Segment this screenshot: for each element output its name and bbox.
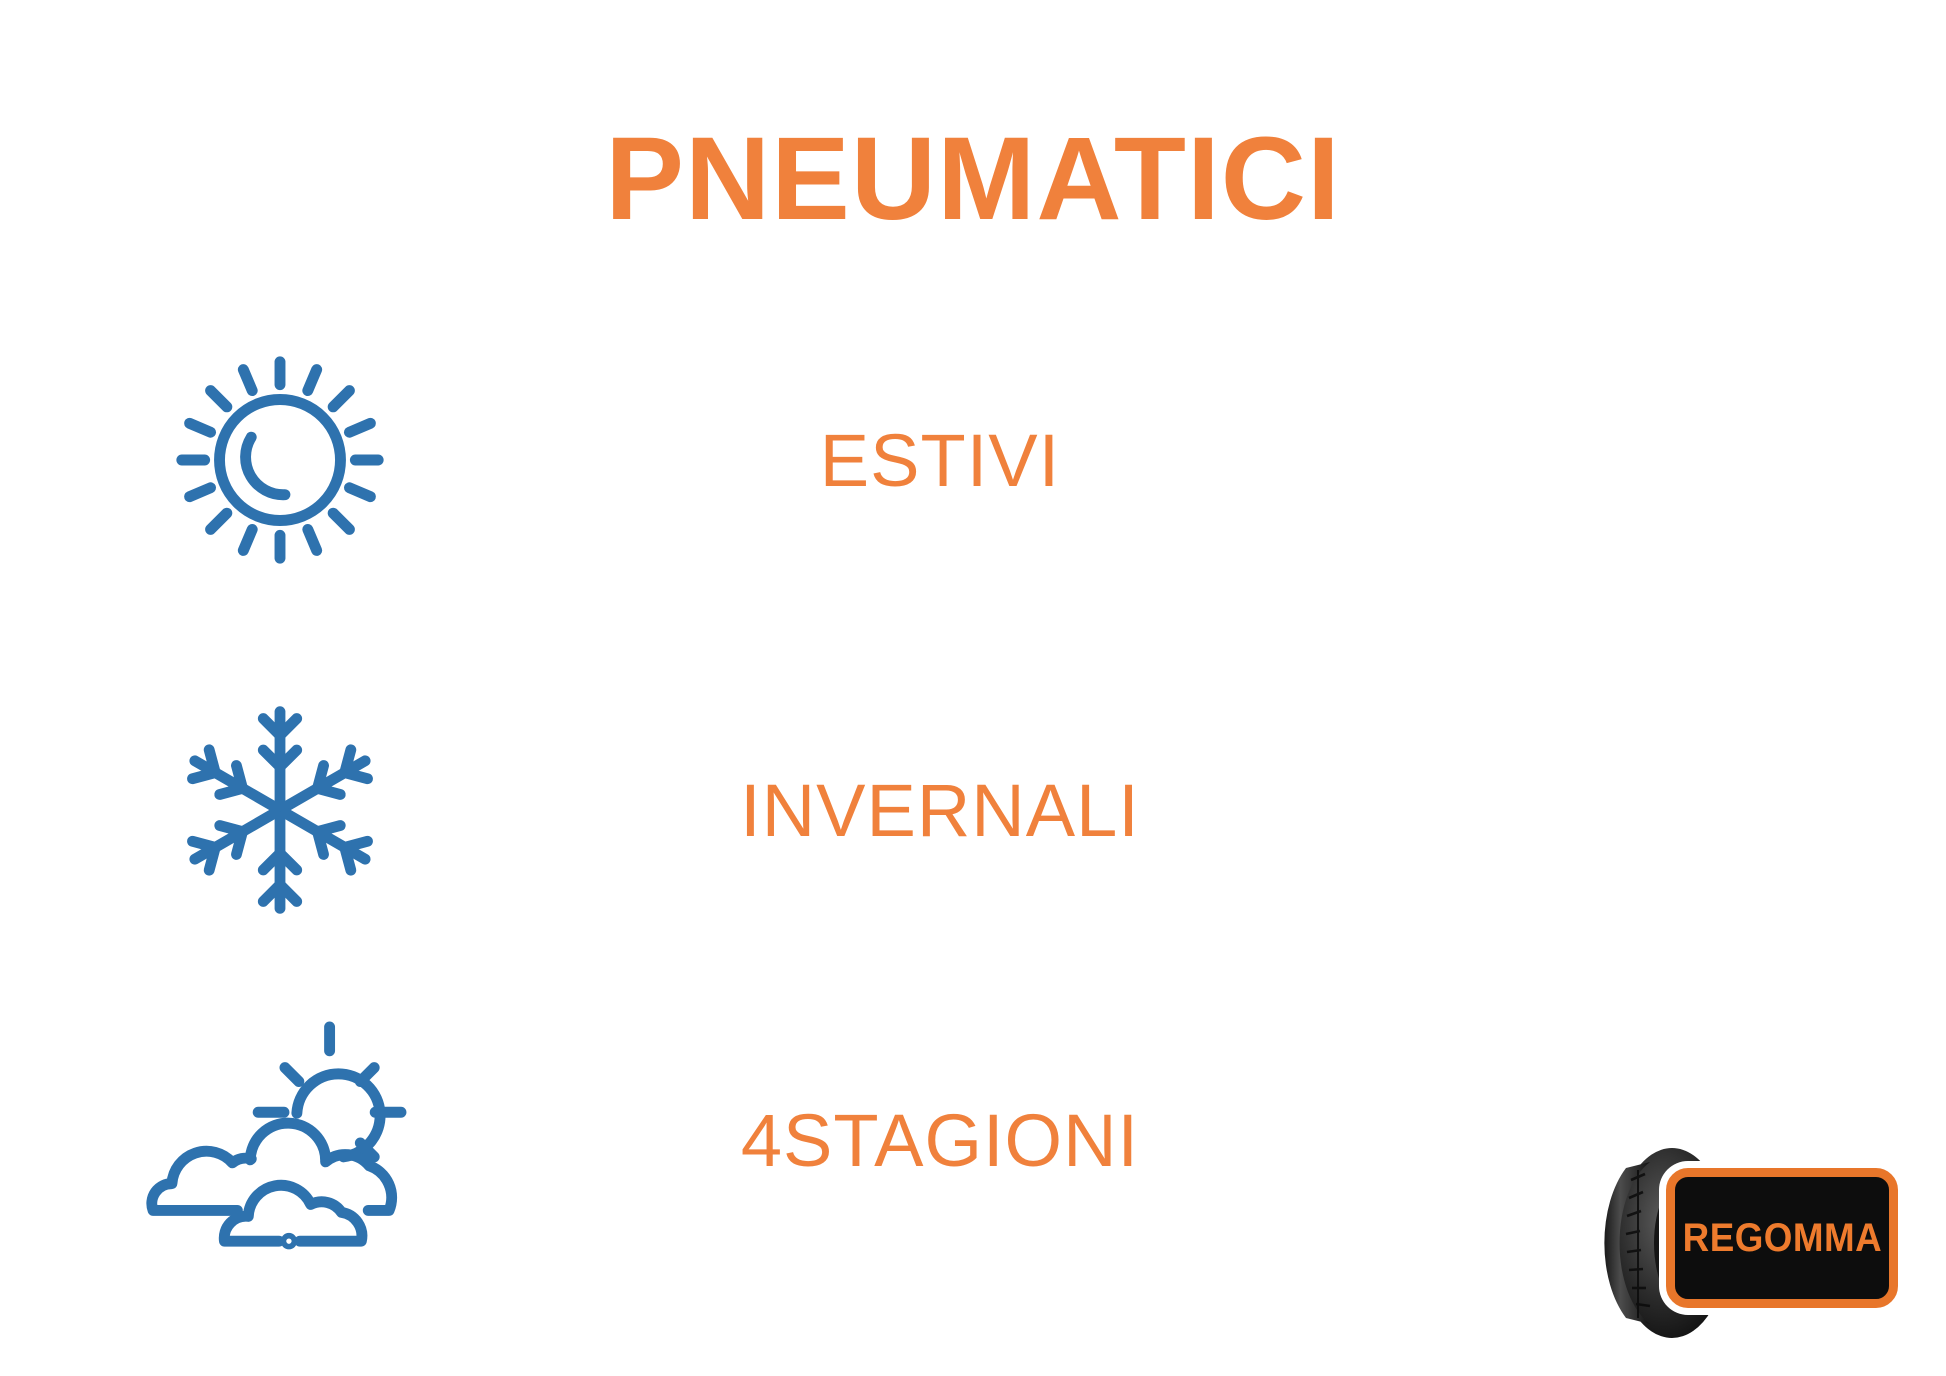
- snowflake-icon: [162, 692, 398, 928]
- label-cell-4stagioni: 4STAGIONI: [560, 1098, 1320, 1183]
- page-title: PNEUMATICI: [0, 118, 1946, 242]
- icon-cell-4stagioni: [0, 1021, 560, 1259]
- icon-cell-invernali: [0, 692, 560, 928]
- label-cell-estivi: ESTIVI: [560, 418, 1320, 503]
- logo-plate: REGOMMA: [1666, 1168, 1898, 1308]
- list-item-invernali[interactable]: INVERNALI: [0, 680, 1946, 940]
- sun-behind-clouds-icon: [137, 1021, 423, 1259]
- slide-root: PNEUMATICI: [0, 0, 1946, 1376]
- logo-brand-text: REGOMMA: [1682, 1216, 1881, 1261]
- list-item-label-4stagioni: 4STAGIONI: [741, 1098, 1139, 1183]
- list-item-estivi[interactable]: ESTIVI: [0, 330, 1946, 590]
- list-item-label-estivi: ESTIVI: [820, 418, 1060, 503]
- list-item-label-invernali: INVERNALI: [740, 768, 1140, 853]
- icon-cell-estivi: [0, 341, 560, 579]
- label-cell-invernali: INVERNALI: [560, 768, 1320, 853]
- sun-icon: [161, 341, 399, 579]
- brand-logo[interactable]: REGOMMA: [1604, 1138, 1904, 1348]
